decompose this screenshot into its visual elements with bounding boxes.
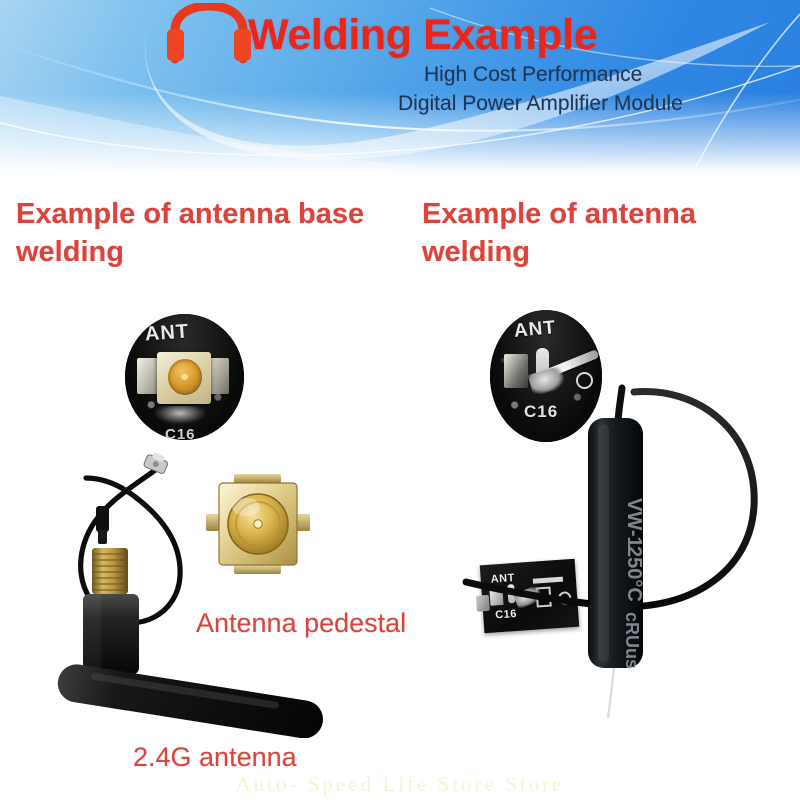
solder-pad-left xyxy=(137,358,159,394)
solder-joint xyxy=(155,406,205,424)
tube-marking-temp: 250°C xyxy=(623,546,645,602)
banner-subtitle-line2: Digital Power Amplifier Module xyxy=(398,92,683,116)
silkscreen-ant-label: ANT xyxy=(513,317,557,343)
hero-banner: Welding Example High Cost Performance Di… xyxy=(0,0,800,178)
tube-marking-vw1: VW-1 xyxy=(623,498,645,548)
gold-ipex-connector-icon xyxy=(168,359,202,395)
banner-title: Welding Example xyxy=(248,11,597,60)
section-heading-antenna-base-welding: Example of antenna base welding xyxy=(16,195,406,272)
tube-marking-crus: cRUus xyxy=(622,612,642,669)
antenna-24g-image xyxy=(30,448,360,738)
pcb-antenna-base-closeup-circle: ANT C16 xyxy=(125,314,244,440)
silkscreen-ant-label: ANT xyxy=(144,320,190,346)
antenna-24g-label: 2.4G antenna xyxy=(133,742,297,773)
silkscreen-c16-label: C16 xyxy=(165,426,196,440)
store-watermark: Auto- Speed Life Store Store xyxy=(0,772,800,797)
solder-pad-right xyxy=(209,358,229,394)
section-heading-antenna-welding: Example of antenna welding xyxy=(422,195,800,272)
heatshrink-tube-image: VW-1 250°C cRUus xyxy=(462,380,800,720)
banner-subtitle-line1: High Cost Performance xyxy=(424,63,642,87)
headphones-icon xyxy=(163,3,255,65)
